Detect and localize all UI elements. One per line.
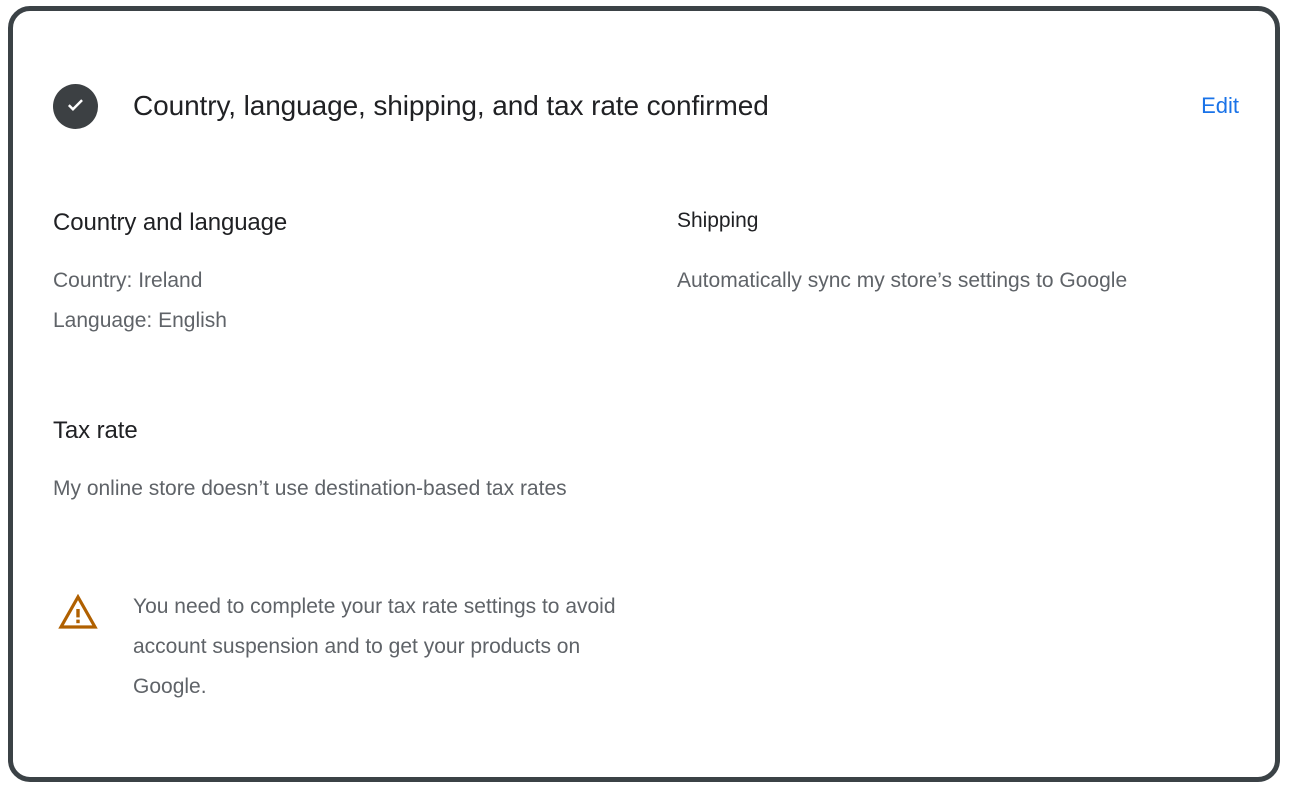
check-circle-icon — [53, 84, 98, 129]
warning-message: You need to complete your tax rate setti… — [133, 587, 657, 707]
tax-rate-section: Tax rate My online store doesn’t use des… — [53, 415, 633, 509]
card-header: Country, language, shipping, and tax rat… — [53, 81, 1239, 131]
shipping-value: Automatically sync my store’s settings t… — [677, 261, 1237, 301]
summary-card: Country, language, shipping, and tax rat… — [8, 6, 1280, 782]
edit-link[interactable]: Edit — [1189, 93, 1239, 119]
page-title: Country, language, shipping, and tax rat… — [133, 89, 1189, 123]
tax-rate-warning: You need to complete your tax rate setti… — [57, 587, 657, 707]
spacer — [53, 447, 633, 469]
language-value: Language: English — [53, 301, 633, 341]
shipping-heading: Shipping — [677, 207, 1237, 235]
warning-triangle-icon — [57, 591, 99, 633]
country-language-section: Country and language Country: Ireland La… — [53, 207, 633, 341]
shipping-section: Shipping Automatically sync my store’s s… — [677, 207, 1237, 301]
spacer — [53, 239, 633, 261]
spacer — [677, 235, 1237, 261]
country-value: Country: Ireland — [53, 261, 633, 301]
tax-rate-value: My online store doesn’t use destination-… — [53, 469, 633, 509]
tax-rate-heading: Tax rate — [53, 415, 633, 447]
country-language-heading: Country and language — [53, 207, 633, 239]
